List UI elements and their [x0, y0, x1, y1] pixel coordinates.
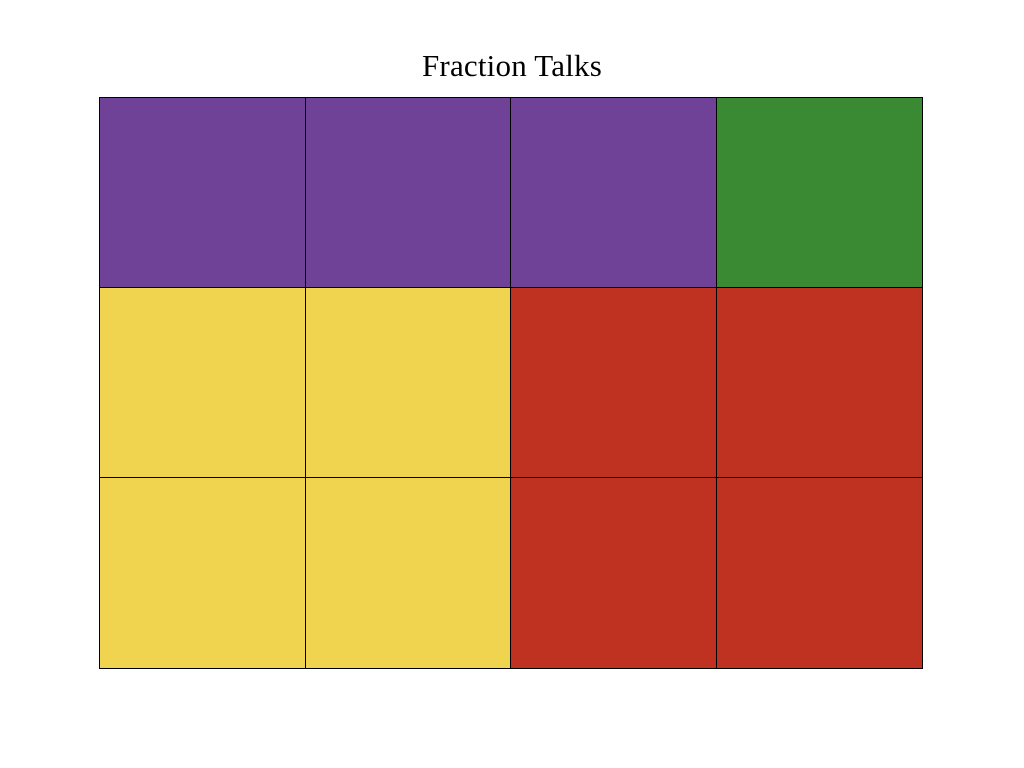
grid-cell-purple-r1c2 [305, 97, 512, 288]
grid-cell-red-r3c3 [510, 477, 717, 668]
grid-cell-yellow-r3c2 [305, 477, 512, 668]
fraction-grid [100, 98, 922, 668]
page-title: Fraction Talks [0, 50, 1024, 81]
grid-cell-red-r2c3 [510, 287, 717, 478]
grid-cell-yellow-r3c1 [99, 477, 306, 668]
grid-cell-green-r1c4 [716, 97, 923, 288]
grid-cell-red-r3c4 [716, 477, 923, 668]
grid-cell-purple-r1c1 [99, 97, 306, 288]
grid-cell-purple-r1c3 [510, 97, 717, 288]
fraction-talks-figure: Fraction Talks [0, 0, 1024, 768]
grid-cell-yellow-r2c1 [99, 287, 306, 478]
grid-cell-red-r2c4 [716, 287, 923, 478]
grid-cell-yellow-r2c2 [305, 287, 512, 478]
